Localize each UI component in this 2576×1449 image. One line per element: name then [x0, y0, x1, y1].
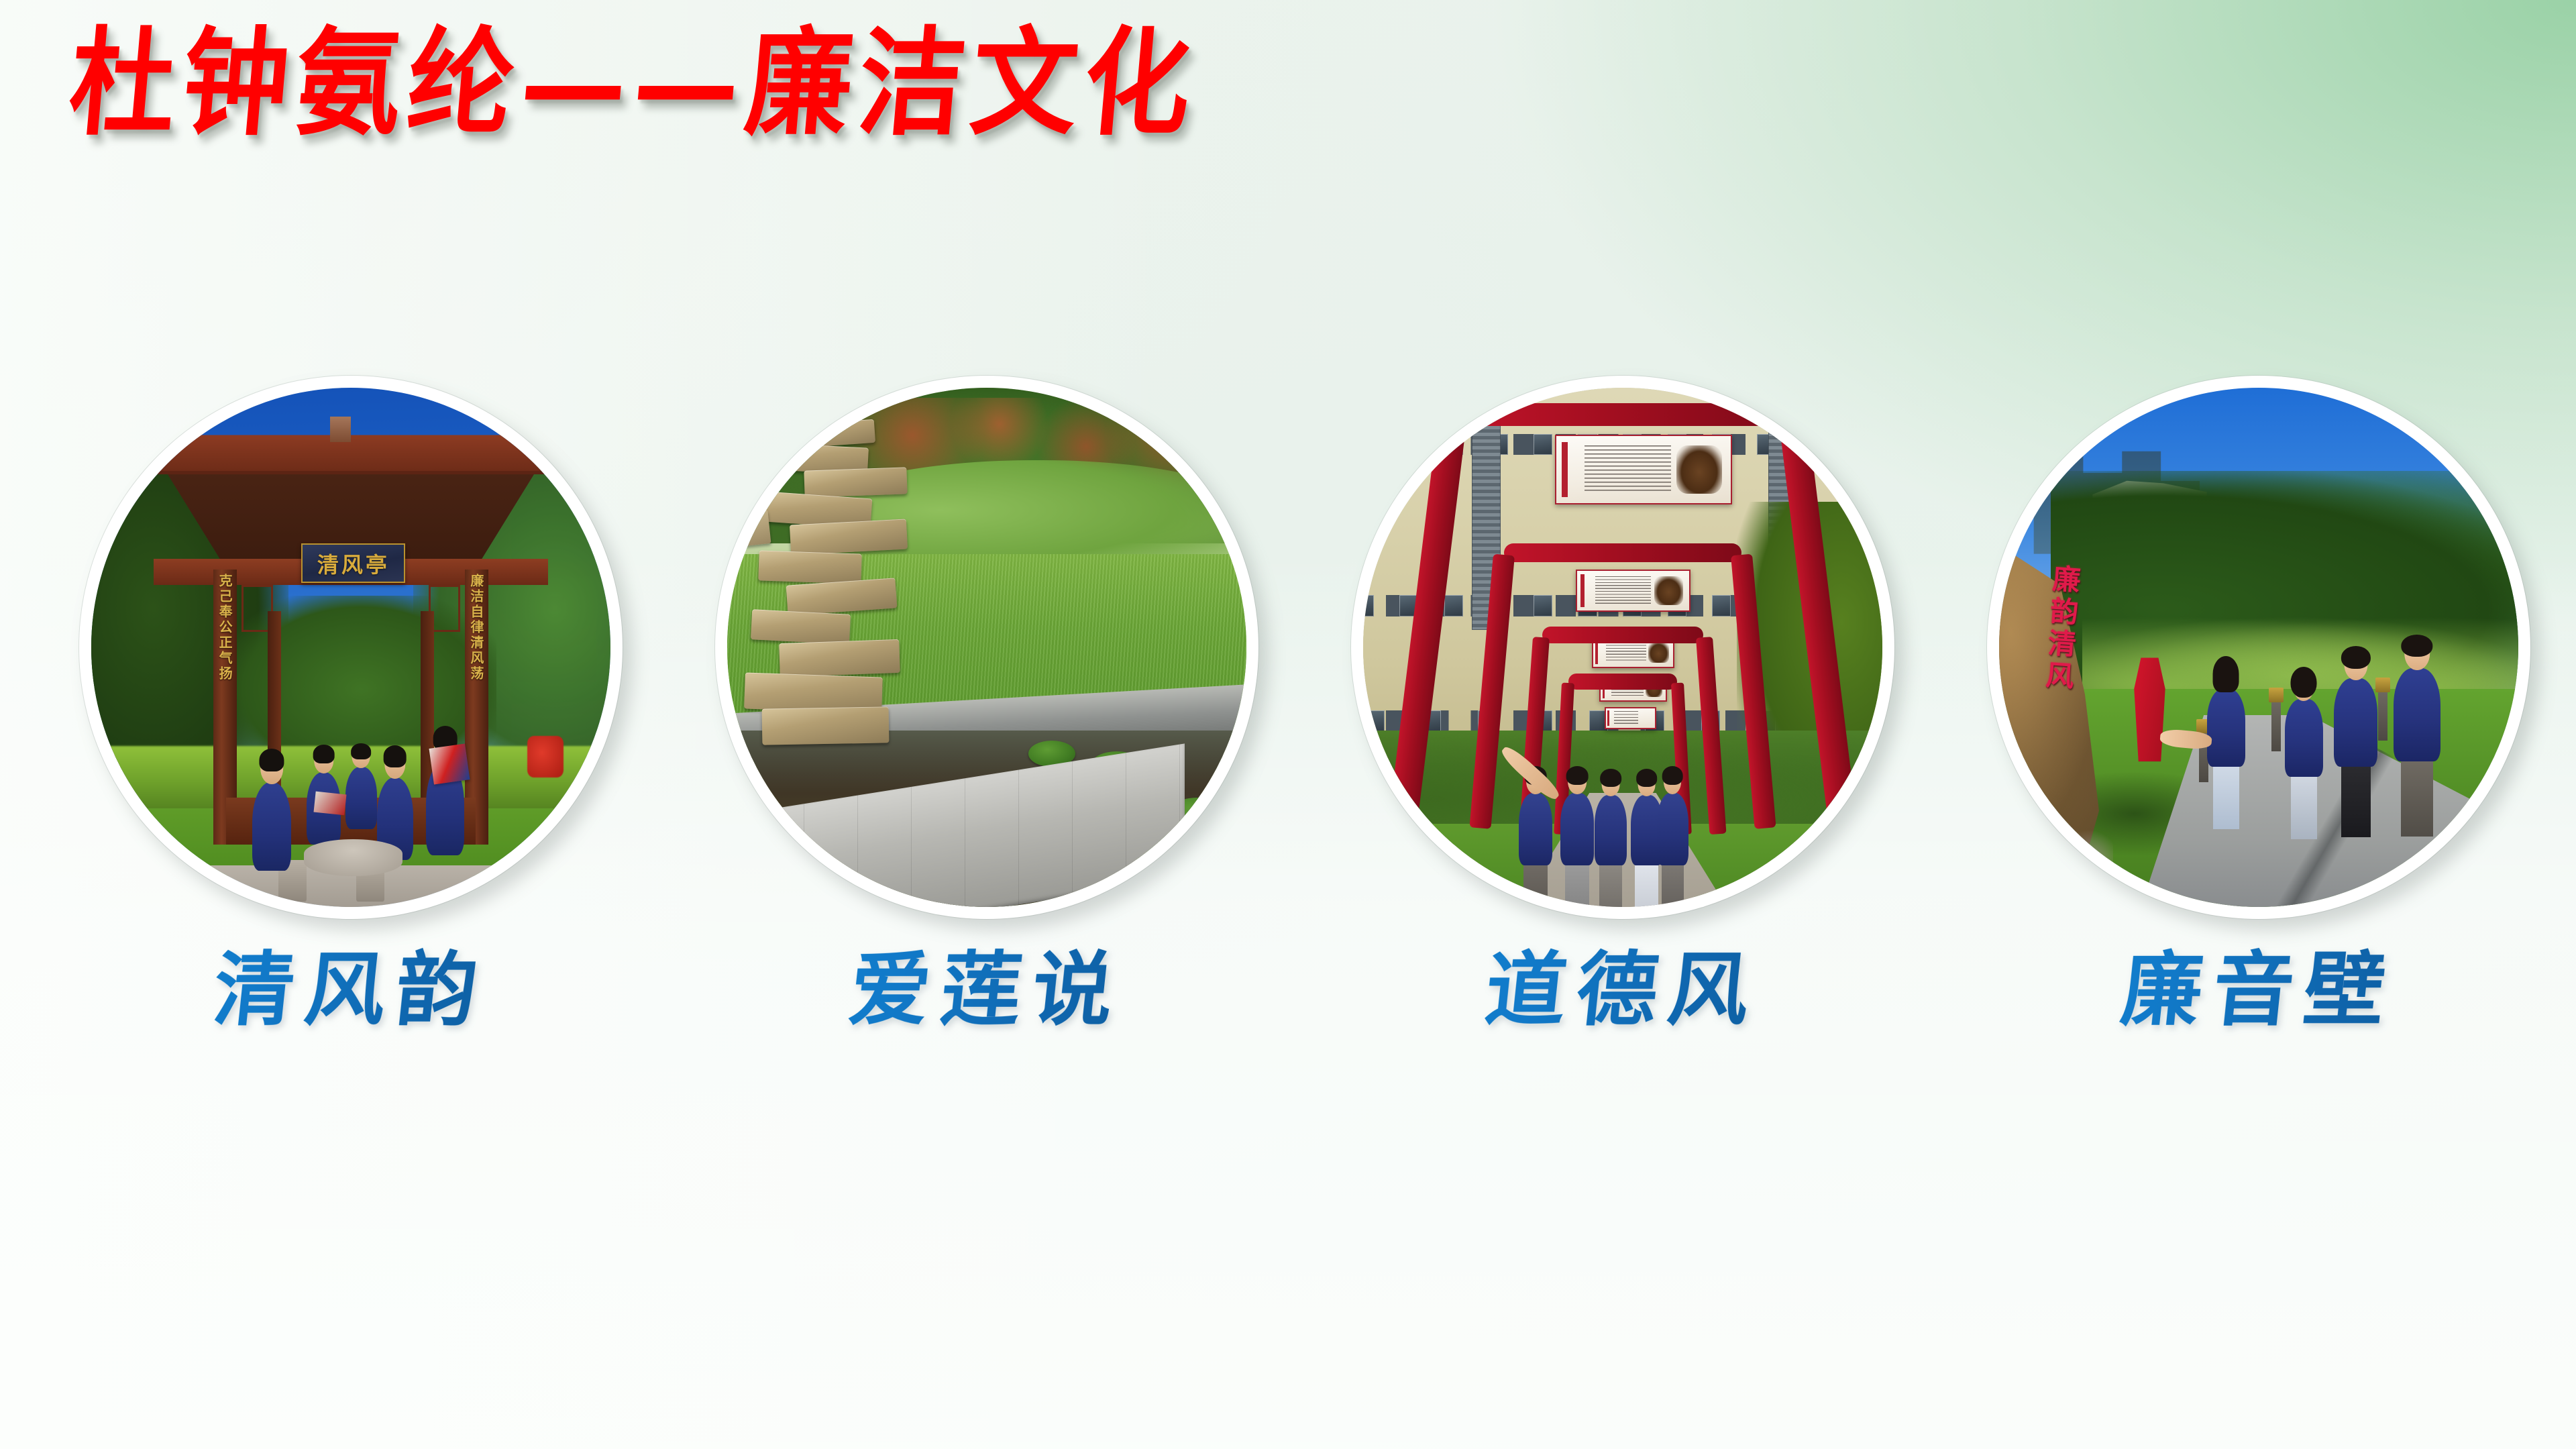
gallery-item-inscribed-boulder[interactable]: 廉韵清风: [1987, 376, 2530, 919]
decorative-pebbles: [1999, 824, 2113, 896]
brochure: [313, 791, 346, 815]
pavilion-roof-finial: [330, 417, 351, 443]
person-standing: [1657, 793, 1688, 865]
pillar-left-inscription: 克己奉公正气扬: [215, 574, 235, 682]
pavilion-roof: [131, 435, 571, 471]
person-standing: [1595, 795, 1627, 865]
boulder-inscription: 廉韵清风: [2037, 563, 2086, 694]
red-arch-corridor-photo[interactable]: [1363, 388, 1882, 907]
boulder-inscription-wrap: 廉韵清风: [2020, 564, 2103, 834]
person-guide: [2207, 689, 2245, 767]
person-standing: [2334, 678, 2377, 767]
person-standing: [2394, 668, 2440, 761]
gallery-item-red-arch-corridor[interactable]: [1351, 376, 1894, 919]
person-standing: [1560, 793, 1594, 865]
rockery-stack: [748, 419, 924, 751]
path-lamp: [2378, 689, 2387, 741]
pavilion-plaque-text: 清风亭: [317, 548, 390, 579]
person-seated: [345, 767, 376, 829]
caption-qingfeng-yun: 清风韵: [74, 938, 628, 1042]
lotus-pond-rockery-photo[interactable]: [727, 388, 1246, 907]
caption-lianyin-bi: 廉音壁: [1982, 938, 2536, 1042]
red-arch-1: [1431, 403, 1815, 845]
person-standing: [2285, 699, 2323, 777]
photo-gallery-row: 清风亭 克己奉公正气扬 廉洁自律清风荡: [0, 376, 2576, 939]
qingfeng-pavilion-photo[interactable]: 清风亭 克己奉公正气扬 廉洁自律清风荡: [91, 388, 610, 907]
red-marker-sign: [2134, 657, 2165, 761]
caption-daode-feng: 道德风: [1346, 938, 1900, 1042]
brochure: [429, 744, 470, 785]
inscribed-boulder-photo[interactable]: 廉韵清风: [1999, 388, 2518, 907]
caption-ailian-shuo: 爱莲说: [710, 938, 1264, 1042]
rockery-side-slab: [729, 510, 771, 547]
gallery-item-lotus-pond[interactable]: [715, 376, 1258, 919]
pillar-right-inscription: 廉洁自律清风荡: [467, 574, 486, 682]
gallery-item-qingfeng-pavilion[interactable]: 清风亭 克己奉公正气扬 廉洁自律清风荡: [79, 376, 623, 919]
page-title: 杜钟氨纶——廉洁文化: [65, 25, 1202, 142]
caption-row: 清风韵 爱莲说 道德风 廉音壁: [0, 938, 2576, 1085]
person-seated: [252, 782, 291, 871]
red-equipment: [527, 736, 563, 777]
path-lamp: [2271, 699, 2281, 751]
pavilion-plaque: 清风亭: [301, 543, 405, 583]
stone-table: [304, 839, 402, 875]
person-standing: [1519, 793, 1552, 865]
